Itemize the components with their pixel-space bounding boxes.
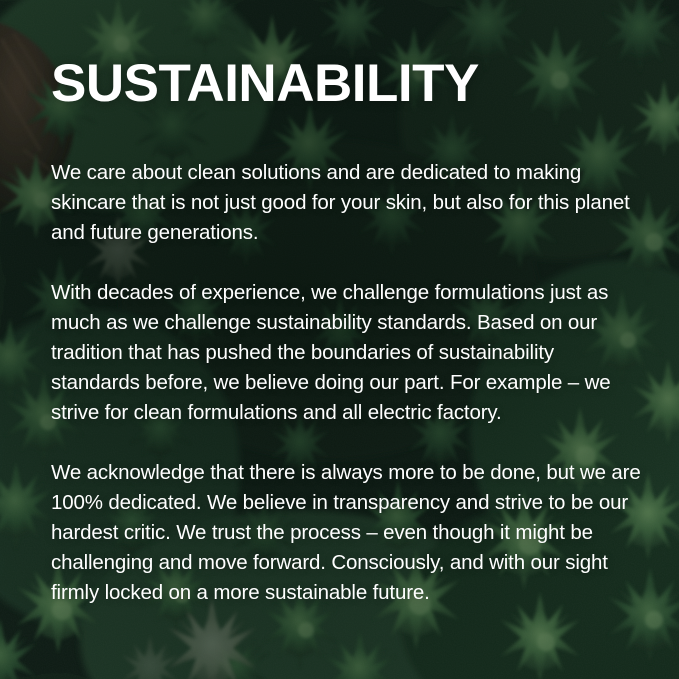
paragraph-2: With decades of experience, we challenge… [51,278,647,428]
paragraph-1: We care about clean solutions and are de… [51,158,647,248]
body-copy: We care about clean solutions and are de… [51,158,647,608]
paragraph-3: We acknowledge that there is always more… [51,458,647,608]
page-title: SUSTAINABILITY [51,57,479,110]
text-content-block: SUSTAINABILITY We care about clean solut… [51,0,651,679]
sustainability-banner: SUSTAINABILITY We care about clean solut… [0,0,679,679]
